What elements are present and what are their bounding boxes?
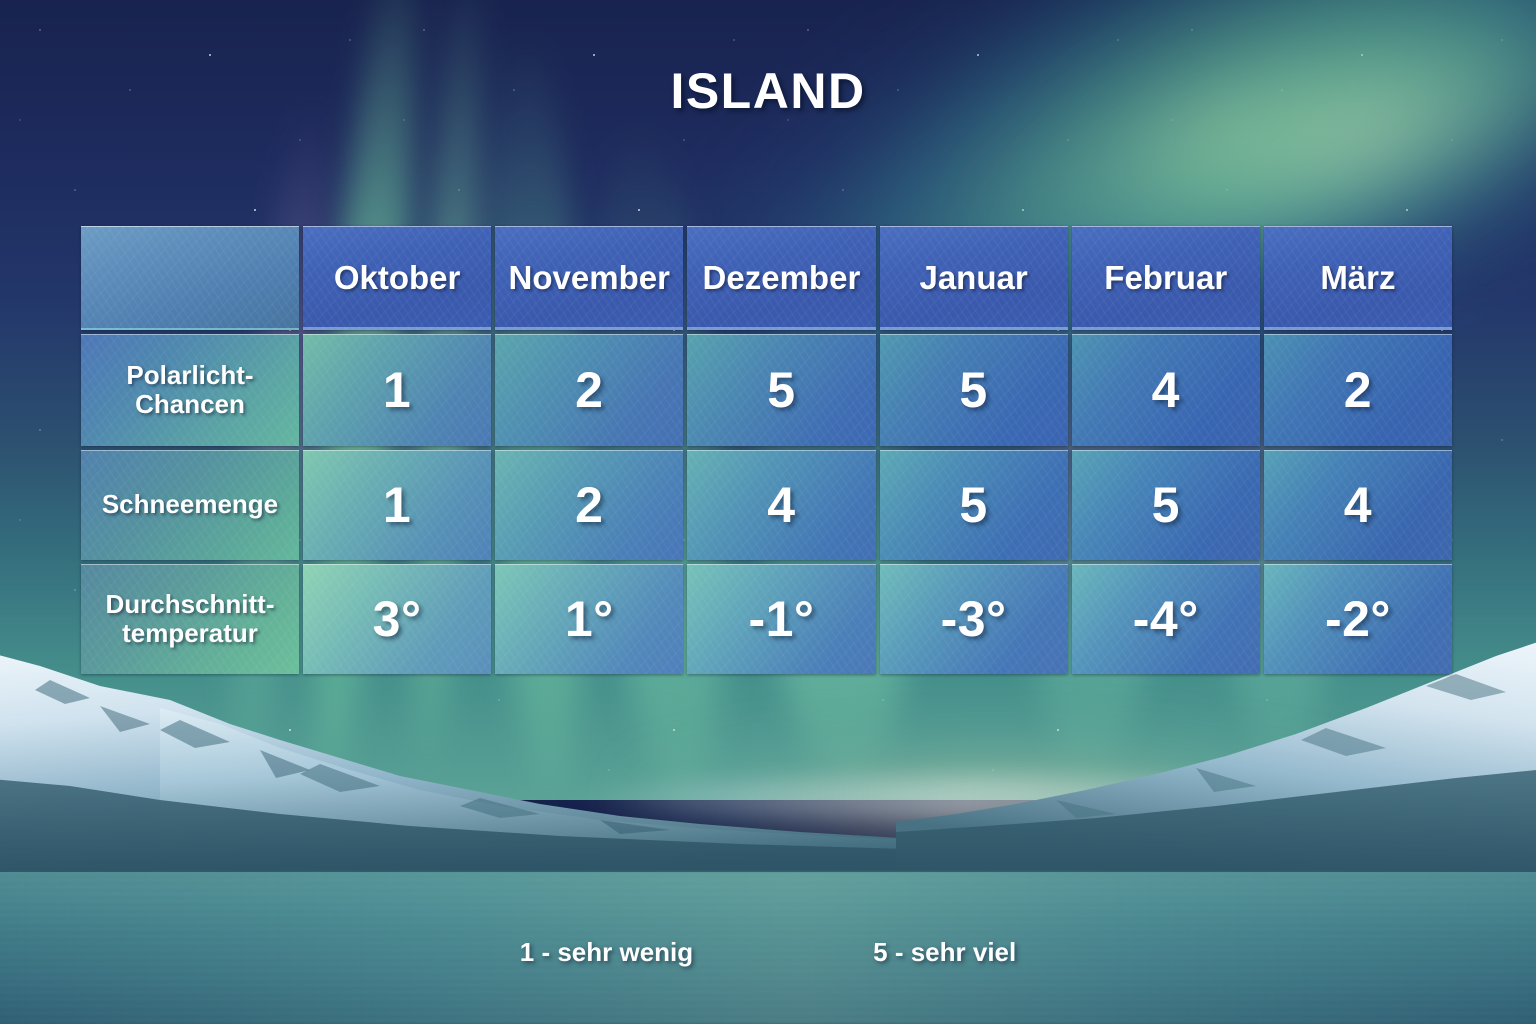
cell-polarlicht-november: 2 xyxy=(495,334,683,446)
cell-polarlicht-februar: 4 xyxy=(1072,334,1260,446)
cell-temperatur-dezember: -1° xyxy=(687,564,875,674)
row-header-schneemenge: Schneemenge xyxy=(81,450,299,560)
cell-schneemenge-november: 2 xyxy=(495,450,683,560)
cell-temperatur-maerz: -2° xyxy=(1264,564,1452,674)
column-header-november: November xyxy=(495,226,683,330)
column-header-januar: Januar xyxy=(880,226,1068,330)
row-header-polarlicht-chancen: Polarlicht-Chancen xyxy=(81,334,299,446)
cell-polarlicht-maerz: 2 xyxy=(1264,334,1452,446)
cell-schneemenge-dezember: 4 xyxy=(687,450,875,560)
cell-temperatur-november: 1° xyxy=(495,564,683,674)
scale-legend: 1 - sehr wenig 5 - sehr viel xyxy=(0,937,1536,968)
legend-low-label: 1 - sehr wenig xyxy=(520,937,693,968)
cell-temperatur-februar: -4° xyxy=(1072,564,1260,674)
climate-table: Oktober November Dezember Januar Februar… xyxy=(81,226,1452,674)
table-grid: Oktober November Dezember Januar Februar… xyxy=(81,226,1452,674)
cell-temperatur-oktober: 3° xyxy=(303,564,491,674)
cell-polarlicht-oktober: 1 xyxy=(303,334,491,446)
column-header-oktober: Oktober xyxy=(303,226,491,330)
cell-schneemenge-januar: 5 xyxy=(880,450,1068,560)
page-title: ISLAND xyxy=(0,62,1536,120)
cell-schneemenge-maerz: 4 xyxy=(1264,450,1452,560)
cell-schneemenge-oktober: 1 xyxy=(303,450,491,560)
cell-polarlicht-januar: 5 xyxy=(880,334,1068,446)
table-corner-cell xyxy=(81,226,299,330)
cell-polarlicht-dezember: 5 xyxy=(687,334,875,446)
cell-schneemenge-februar: 5 xyxy=(1072,450,1260,560)
column-header-dezember: Dezember xyxy=(687,226,875,330)
column-header-maerz: März xyxy=(1264,226,1452,330)
legend-high-label: 5 - sehr viel xyxy=(873,937,1016,968)
cell-temperatur-januar: -3° xyxy=(880,564,1068,674)
row-header-durchschnittstemperatur: Durchschnitt-temperatur xyxy=(81,564,299,674)
column-header-februar: Februar xyxy=(1072,226,1260,330)
